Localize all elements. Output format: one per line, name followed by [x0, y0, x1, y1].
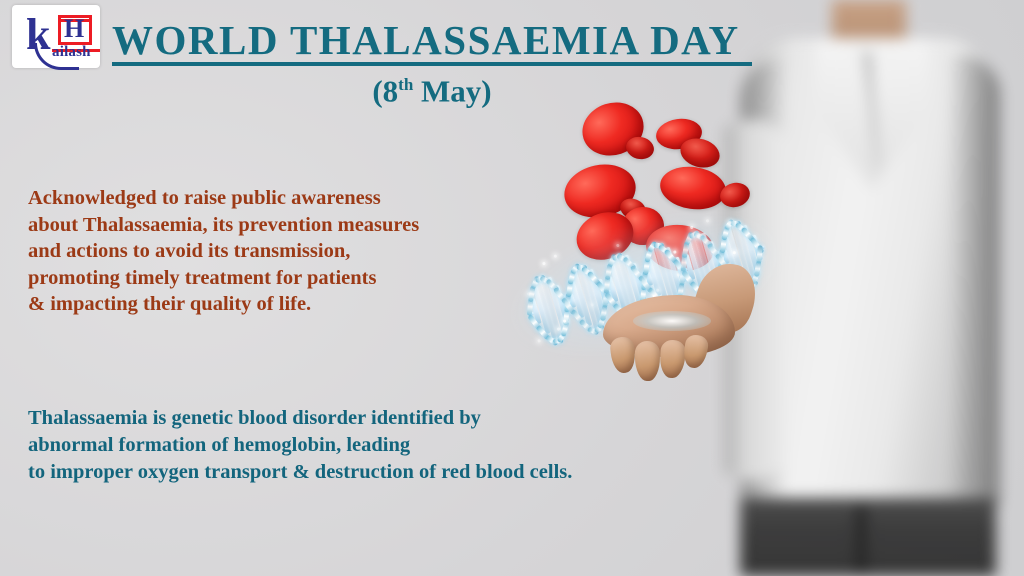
definition-line: Thalassaemia is genetic blood disorder i… [28, 405, 758, 432]
figure-coat-shade-right [948, 55, 1000, 505]
awareness-line: & impacting their quality of life. [28, 291, 568, 318]
logo-wordmark: ailash [52, 45, 91, 60]
awareness-paragraph: Acknowledged to raise public awareness a… [28, 185, 568, 318]
kailash-logo[interactable]: k H ailash [12, 5, 100, 68]
hand-finger [609, 336, 637, 374]
awareness-line: and actions to avoid its transmission, [28, 238, 568, 265]
figure-trousers-seam [856, 506, 866, 576]
logo-letter-h: H [64, 16, 84, 42]
figure-trousers [740, 498, 996, 576]
definition-line: abnormal formation of hemoglobin, leadin… [28, 432, 758, 459]
poster-canvas: k H ailash WORLD THALASSAEMIA DAY (8th M… [0, 0, 1024, 576]
hand-finger [635, 341, 661, 381]
definition-paragraph: Thalassaemia is genetic blood disorder i… [28, 405, 758, 486]
date-ordinal: th [398, 75, 413, 94]
definition-line: to improper oxygen transport & destructi… [28, 459, 758, 486]
open-hand-holding-dna [585, 285, 765, 380]
hand-glow [633, 311, 711, 331]
awareness-line: about Thalassaemia, its prevention measu… [28, 212, 568, 239]
hand-finger [659, 339, 687, 379]
page-title: WORLD THALASSAEMIA DAY [112, 18, 740, 62]
hand-finger [681, 333, 709, 369]
awareness-line: promoting timely treatment for patients [28, 265, 568, 292]
awareness-line: Acknowledged to raise public awareness [28, 185, 568, 212]
date-suffix: May) [413, 73, 491, 108]
date-prefix: (8 [372, 73, 398, 108]
